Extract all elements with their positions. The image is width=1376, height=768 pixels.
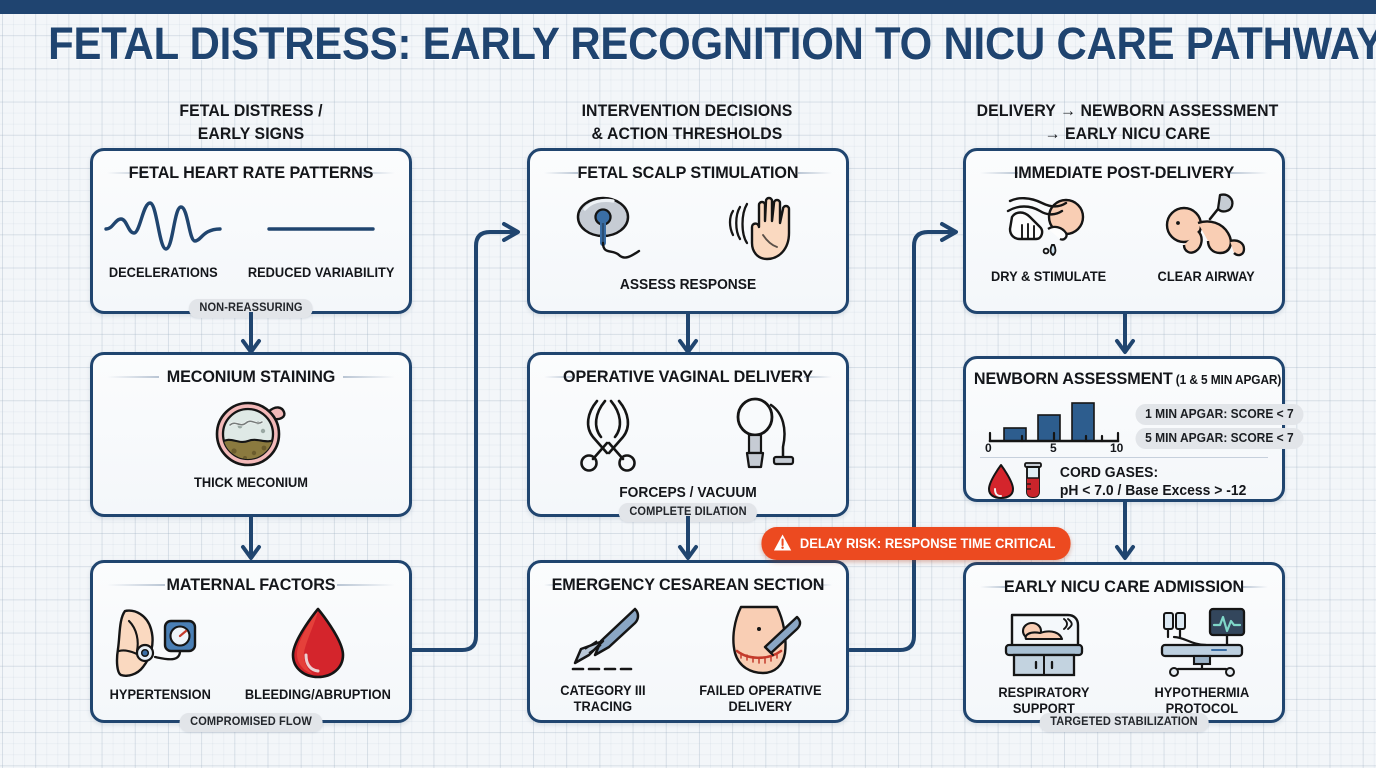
flat-line-icon bbox=[261, 197, 381, 259]
icon-caption-clear-airway: CLEAR AIRWAY bbox=[1158, 269, 1255, 285]
card-meconium-staining[interactable]: MECONIUM STAINING bbox=[90, 352, 412, 517]
vacuum-extractor-icon bbox=[721, 395, 813, 473]
icon-cell-scalp-electrode bbox=[561, 193, 657, 265]
icon-cell-failed-operative-delivery: FAILED OPERATIVE DELIVERY bbox=[696, 603, 825, 715]
blood-drop-icon bbox=[275, 605, 361, 681]
alert-delay-risk: DELAY RISK: RESPONSE TIME CRITICAL bbox=[761, 527, 1070, 560]
card-newborn-assessment[interactable]: NEWBORN ASSESSMENT (1 & 5 MIN APGAR) 0 5… bbox=[963, 356, 1285, 502]
icon-cell-hypertension: HYPERTENSION bbox=[107, 605, 214, 703]
card-title-early-nicu-care-admission: EARLY NICU CARE ADMISSION bbox=[974, 577, 1274, 597]
icon-caption-assess-response: ASSESS RESPONSE bbox=[538, 277, 838, 293]
card-fetal-scalp-stimulation[interactable]: FETAL SCALP STIMULATION bbox=[527, 148, 849, 314]
arrow-scalp-to-operative bbox=[677, 312, 699, 358]
column-header-col1: FETAL DISTRESS / EARLY SIGNS bbox=[98, 99, 405, 145]
scalpel-icon bbox=[551, 603, 655, 677]
scalp-electrode-icon bbox=[561, 193, 657, 265]
abdominal-incision-icon bbox=[709, 603, 813, 677]
column-header-col1-line2: EARLY SIGNS bbox=[98, 122, 405, 145]
apgar-tick-0: 0 bbox=[985, 441, 992, 455]
card-title-fetal-scalp-stimulation: FETAL SCALP STIMULATION bbox=[538, 163, 838, 183]
card-early-nicu-care-admission[interactable]: EARLY NICU CARE ADMISSION RESPIRATORY SU… bbox=[963, 562, 1285, 723]
icon-cell-hand-stimulation bbox=[719, 193, 815, 265]
bulb-suction-newborn-icon bbox=[1152, 191, 1260, 263]
blood-test-tube-icon bbox=[1020, 461, 1046, 499]
column-header-col2-line2: & ACTION THRESHOLDS bbox=[534, 122, 841, 145]
warning-triangle-icon bbox=[773, 533, 792, 553]
icon-cell-dry-stimulate: DRY & STIMULATE bbox=[988, 191, 1109, 285]
blood-pressure-cuff-icon bbox=[107, 605, 213, 681]
icon-caption-failed-operative-delivery: FAILED OPERATIVE DELIVERY bbox=[700, 683, 822, 715]
card-maternal-factors[interactable]: MATERNAL FACTORS HYPERTENSION bbox=[90, 560, 412, 723]
cord-gases-text: CORD GASES: pH < 7.0 / Base Excess > -12 bbox=[1060, 464, 1246, 500]
card-title-newborn-assessment-main: NEWBORN ASSESSMENT bbox=[974, 369, 1173, 388]
icon-cell-reduced-variability: REDUCED VARIABILITY bbox=[244, 197, 398, 281]
arrow-fhr-to-meconium bbox=[240, 312, 262, 358]
icon-caption-reduced-variability: REDUCED VARIABILITY bbox=[248, 265, 395, 281]
card-title-meconium-staining: MECONIUM STAINING bbox=[101, 367, 401, 387]
column-header-col2-line1: INTERVENTION DECISIONS bbox=[534, 99, 841, 122]
card-title-fetal-heart-rate: FETAL HEART RATE PATTERNS bbox=[101, 163, 401, 183]
card-emergency-cesarean-section[interactable]: EMERGENCY CESAREAN SECTION CATEGORY III … bbox=[527, 560, 849, 723]
arrow-operative-to-cesarean bbox=[677, 516, 699, 566]
apgar-tick-5: 5 bbox=[1050, 441, 1057, 455]
icon-caption-category-iii-tracing: CATEGORY III TRACING bbox=[560, 683, 645, 715]
card-title-newborn-assessment-sub: (1 & 5 MIN APGAR) bbox=[1173, 373, 1282, 387]
cord-gases-label: CORD GASES: bbox=[1060, 464, 1246, 482]
page-title: FETAL DISTRESS: EARLY RECOGNITION TO NIC… bbox=[48, 18, 1328, 70]
icon-cell-category-iii-tracing: CATEGORY III TRACING bbox=[551, 603, 655, 715]
column-header-col2: INTERVENTION DECISIONS & ACTION THRESHOL… bbox=[534, 99, 841, 145]
cord-gases-values: pH < 7.0 / Base Excess > -12 bbox=[1060, 482, 1246, 500]
icon-cell-thick-meconium: THICK MECONIUM bbox=[191, 395, 311, 491]
icon-cell-clear-airway: CLEAR AIRWAY bbox=[1152, 191, 1260, 285]
forceps-icon bbox=[563, 395, 655, 473]
card-immediate-post-delivery[interactable]: IMMEDIATE POST-DELIVERY DRY & STIMULATE bbox=[963, 148, 1285, 314]
cooling-monitor-icon bbox=[1154, 605, 1250, 679]
pill-targeted-stabilization: TARGETED STABILIZATION bbox=[1040, 713, 1209, 732]
badge-1-min-apgar: 1 MIN APGAR: SCORE < 7 bbox=[1135, 404, 1303, 425]
column-header-col1-line1: FETAL DISTRESS / bbox=[98, 99, 405, 122]
alert-delay-risk-text: DELAY RISK: RESPONSE TIME CRITICAL bbox=[800, 536, 1056, 551]
arrow-postdelivery-to-newborn bbox=[1114, 312, 1136, 358]
pill-compromised-flow: COMPROMISED FLOW bbox=[180, 713, 323, 732]
arrow-newborn-to-nicu bbox=[1114, 502, 1136, 566]
connector-col2-to-col3 bbox=[842, 216, 972, 666]
card-title-immediate-post-delivery: IMMEDIATE POST-DELIVERY bbox=[974, 163, 1274, 183]
icon-cell-bleeding-abruption: BLEEDING/ABRUPTION bbox=[241, 605, 395, 703]
icon-cell-hypothermia-protocol: HYPOTHERMIA PROTOCOL bbox=[1152, 605, 1252, 717]
card-title-operative-vaginal-delivery: OPERATIVE VAGINAL DELIVERY bbox=[538, 367, 838, 387]
icon-cell-respiratory-support: RESPIRATORY SUPPORT bbox=[996, 605, 1092, 717]
meconium-fluid-icon bbox=[210, 395, 292, 469]
icon-cell-forceps bbox=[563, 395, 655, 473]
column-header-col3-line2: → EARLY NICU CARE bbox=[958, 122, 1297, 145]
top-accent-bar bbox=[0, 0, 1376, 14]
icon-caption-hypertension: HYPERTENSION bbox=[110, 687, 211, 703]
card-fetal-heart-rate[interactable]: FETAL HEART RATE PATTERNS DECELERATIONS … bbox=[90, 148, 412, 314]
column-header-col3-line1: DELIVERY → NEWBORN ASSESSMENT bbox=[958, 99, 1297, 122]
column-header-col3: DELIVERY → NEWBORN ASSESSMENT → EARLY NI… bbox=[958, 99, 1297, 145]
badge-5-min-apgar: 5 MIN APGAR: SCORE < 7 bbox=[1135, 428, 1303, 449]
icon-caption-thick-meconium: THICK MECONIUM bbox=[194, 475, 308, 491]
connector-col1-to-col2 bbox=[404, 216, 534, 666]
infographic-canvas: FETAL DISTRESS: EARLY RECOGNITION TO NIC… bbox=[0, 0, 1376, 768]
deceleration-waveform-icon bbox=[103, 197, 223, 259]
icon-cell-vacuum-extractor bbox=[721, 395, 813, 473]
icon-caption-dry-stimulate: DRY & STIMULATE bbox=[991, 269, 1106, 285]
icon-caption-bleeding-abruption: BLEEDING/ABRUPTION bbox=[245, 687, 391, 703]
apgar-tick-10: 10 bbox=[1110, 441, 1123, 455]
dry-stimulate-newborn-icon bbox=[994, 191, 1102, 263]
card-title-emergency-cesarean-section: EMERGENCY CESAREAN SECTION bbox=[538, 575, 838, 595]
card-title-maternal-factors: MATERNAL FACTORS bbox=[101, 575, 401, 595]
incubator-icon bbox=[996, 605, 1092, 679]
newborn-card-divider bbox=[980, 457, 1268, 458]
hand-stimulation-icon bbox=[719, 193, 815, 265]
card-title-newborn-assessment: NEWBORN ASSESSMENT (1 & 5 MIN APGAR) bbox=[974, 369, 1274, 389]
blood-drop-icon bbox=[986, 463, 1016, 499]
card-operative-vaginal-delivery[interactable]: OPERATIVE VAGINAL DELIVERY bbox=[527, 352, 849, 517]
icon-caption-forceps-vacuum: FORCEPS / VACUUM bbox=[538, 485, 838, 501]
icon-cell-decelerations: DECELERATIONS bbox=[103, 197, 223, 281]
icon-caption-decelerations: DECELERATIONS bbox=[109, 265, 218, 281]
arrow-meconium-to-maternal bbox=[240, 516, 262, 566]
